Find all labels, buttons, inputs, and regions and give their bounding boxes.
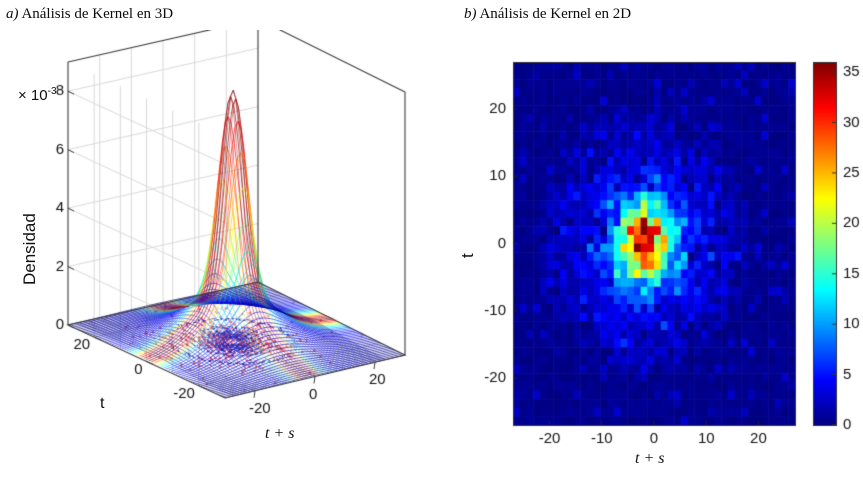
heatmap-y-axis-label-t: t <box>458 253 478 258</box>
z-axis-label: Densidad <box>20 213 40 285</box>
heatmap-x-axis-label-t-plus-s: t + s <box>635 450 664 468</box>
kernel-3d-surface-plot <box>0 30 431 479</box>
z-axis-multiplier: × 10-3 <box>18 86 57 104</box>
z-multiplier-base: × 10 <box>18 87 48 104</box>
heatmap-x-label-plus: + <box>639 450 658 467</box>
panel-b-prefix: b) <box>464 6 477 22</box>
x-label-plus: + <box>269 425 288 442</box>
panel-b-title-text: Análisis de Kernel en 2D <box>479 6 631 22</box>
y-axis-label-t: t <box>100 395 104 413</box>
panel-a-title-text: Análisis de Kernel en 3D <box>21 6 173 22</box>
x-axis-label-t-plus-s: t + s <box>265 425 294 443</box>
panel-b-title: b) Análisis de Kernel en 2D <box>464 6 631 23</box>
panel-a-title: a) Análisis de Kernel en 3D <box>6 6 173 23</box>
z-multiplier-exponent: -3 <box>48 86 57 97</box>
heatmap-x-label-s: s <box>658 450 664 467</box>
panel-a-prefix: a) <box>6 6 19 22</box>
x-label-s: s <box>288 425 294 442</box>
kernel-2d-heatmap-plot <box>431 30 863 479</box>
